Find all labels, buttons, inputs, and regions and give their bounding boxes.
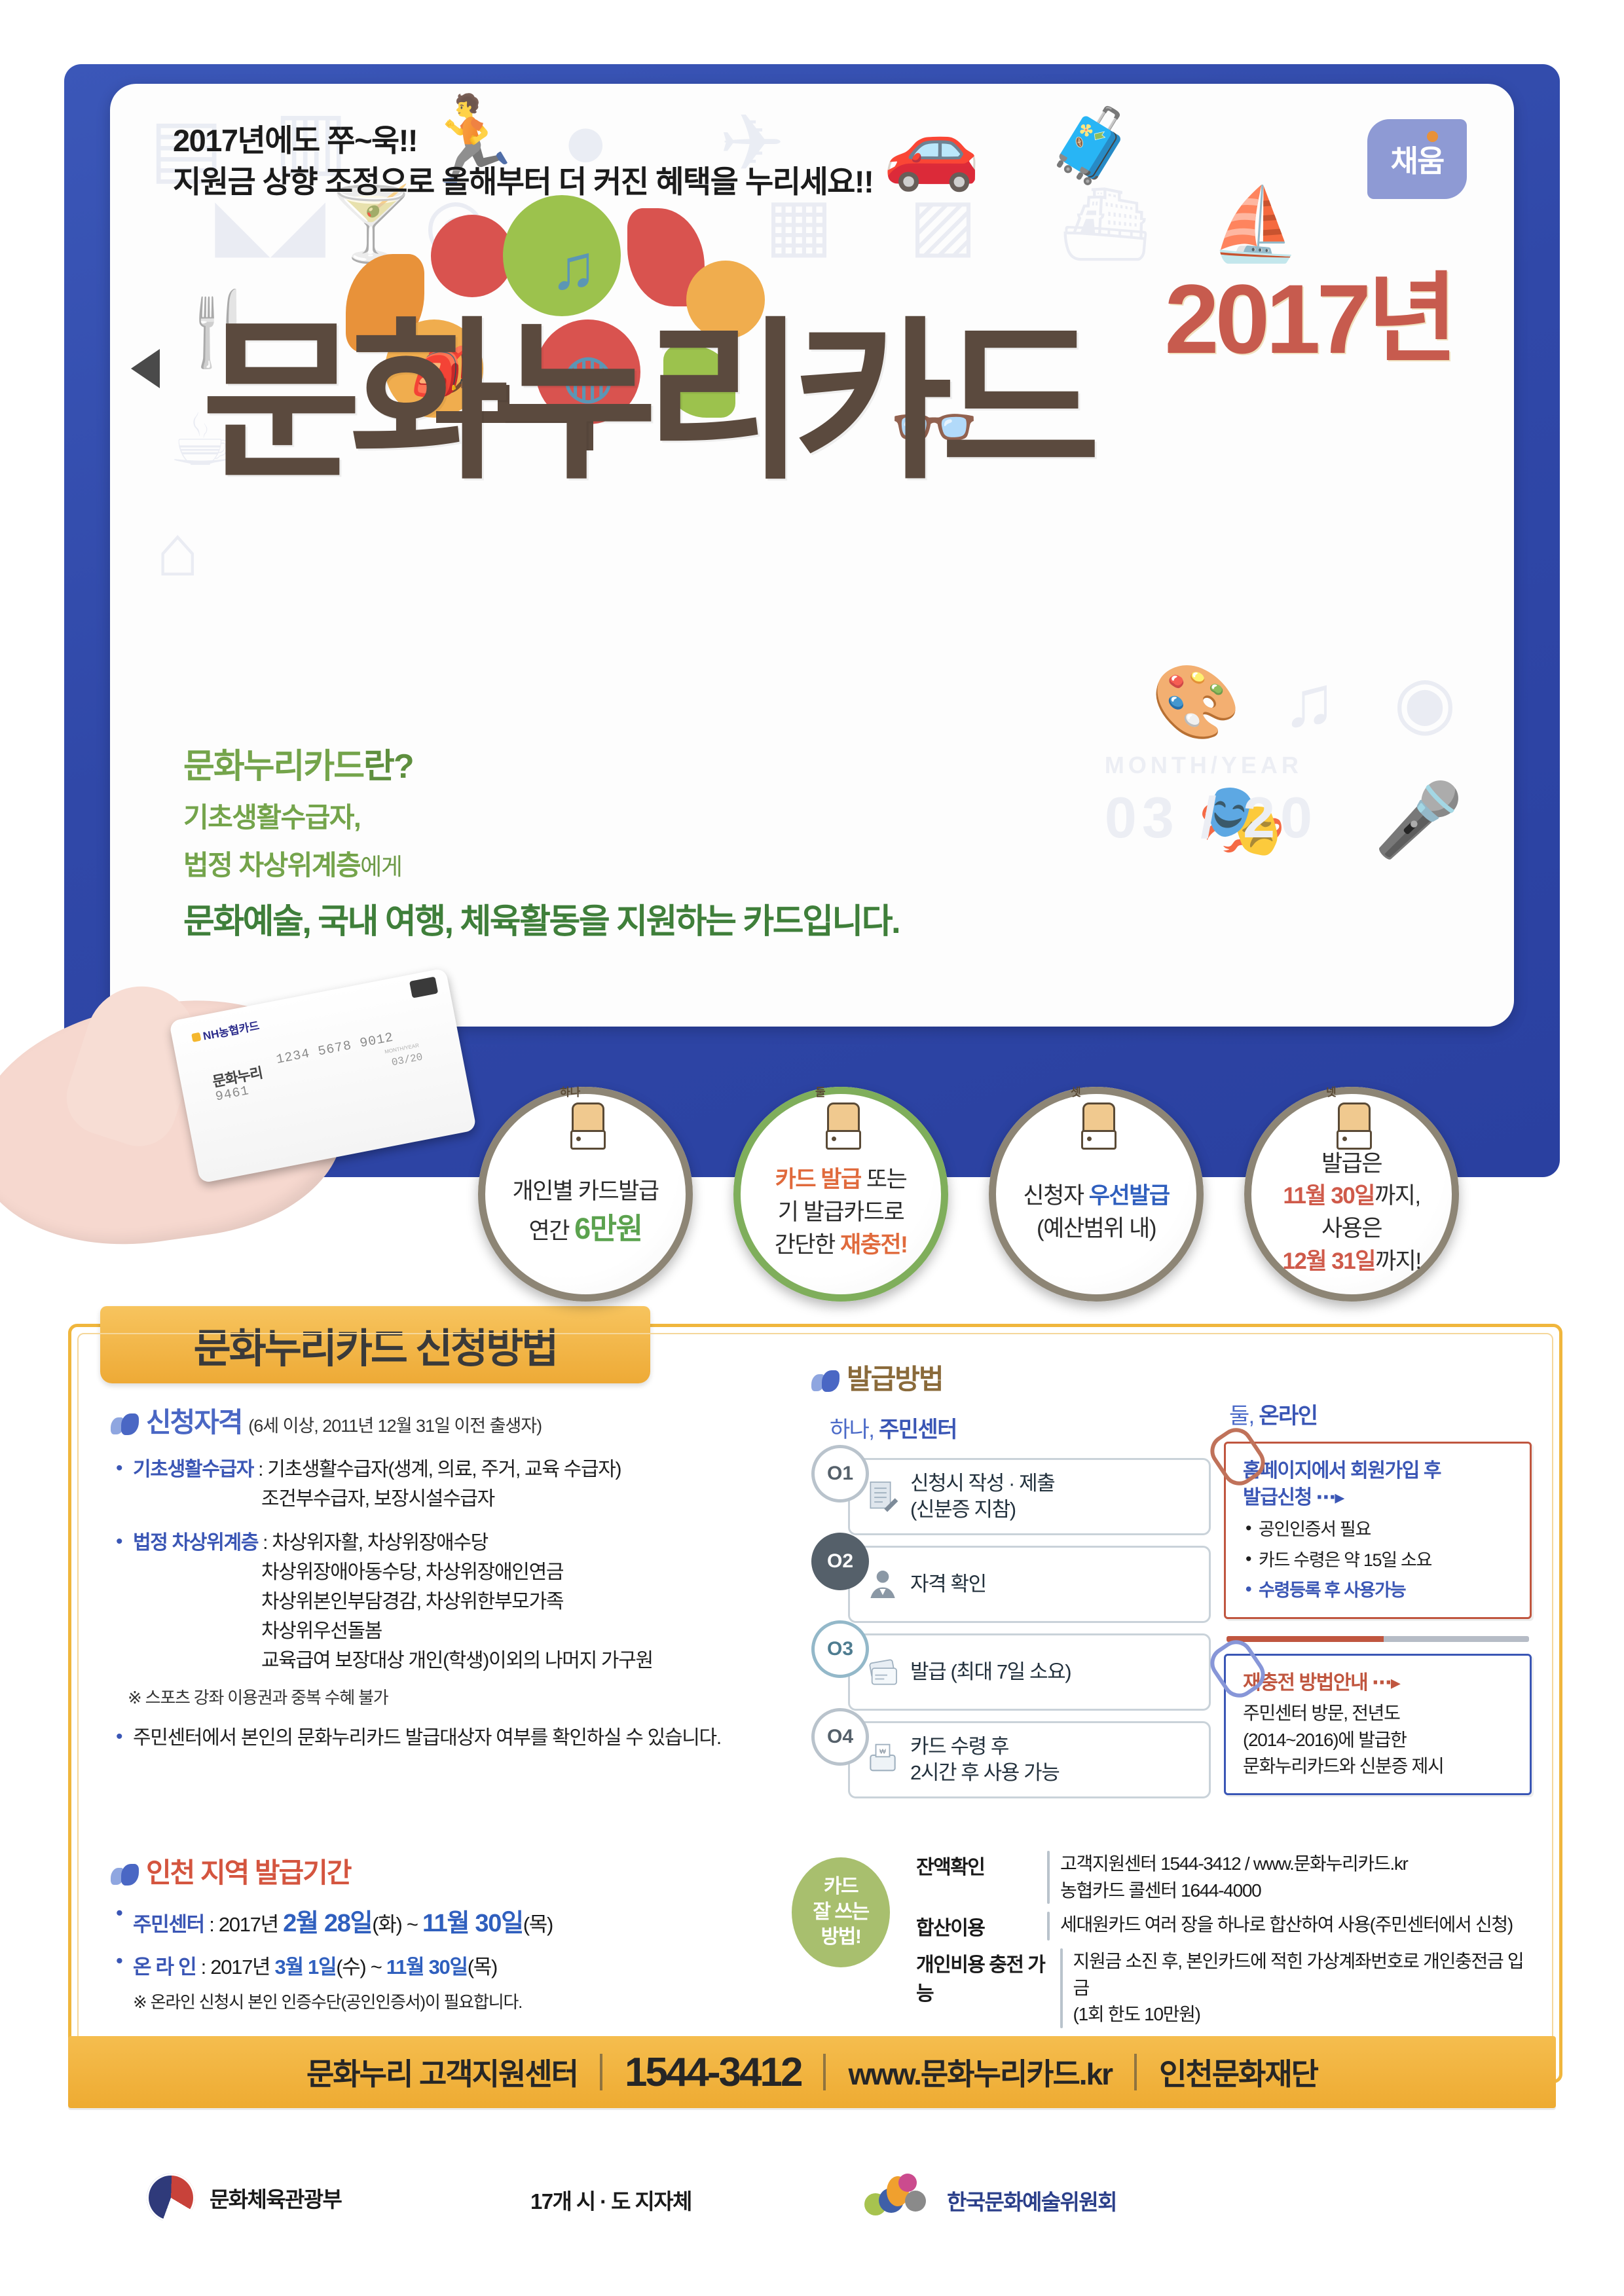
badge-deadlines: 넷 발급은 11월 30일까지, 사용은 12월 31일까지! — [1244, 1087, 1459, 1302]
badge-issue-or-recharge: 둘 카드 발급 또는 기 발급카드로 간단한 재충전! — [733, 1087, 948, 1302]
card-issuer: NH농협카드 — [191, 1016, 261, 1045]
contact-bar: 문화누리 고객지원센터 1544-3412 www.문화누리카드.kr 인천문화… — [68, 2036, 1556, 2108]
tip-row-topup: 개인비용 충전 가능 지원금 소진 후, 본인카드에 적힌 가상계좌번호로 개인… — [916, 1948, 1525, 2028]
footer-logos: 문화체육관광부 17개 시 · 도 지자체 한국문화예술위원회 행복한 대한민국… — [0, 2154, 1624, 2285]
hand-thumbsup-icon: 하나 — [563, 1083, 608, 1144]
month-year-label: MONTH/YEAR — [1105, 752, 1302, 778]
arko-emblem-icon — [864, 2176, 932, 2225]
period-row-online: 온 라 인 : 2017년 3월 1일(수) ~ 11월 30일(목) — [111, 1950, 805, 1980]
period-row-0-suffix: (목) — [523, 1913, 553, 1936]
tip-row-0-value: 고객지원센터 1544-3412 / www.문화누리카드.kr 농협카드 콜센… — [1060, 1851, 1408, 1904]
issue-step-4-number: O4 — [811, 1708, 869, 1766]
badge-1-line-2: 연간 6만원 — [512, 1208, 658, 1250]
badge-priority-issue: 셋 신청자 우선발급 (예산범위 내) — [989, 1087, 1204, 1302]
eligibility-column: 신청자격 (6세 이상, 2011년 12월 31일 이전 출생자) 기초생활수… — [111, 1400, 785, 1753]
gov-main: 정부3.0 — [1270, 2182, 1624, 2224]
badge-text-3: 신청자 우선발급 (예산범위 내) — [1023, 1143, 1169, 1245]
online-note-list: 공인인증서 필요 카드 수령은 약 15일 소요 수령등록 후 사용가능 — [1243, 1516, 1517, 1604]
contact-divider-3 — [1134, 2054, 1137, 2090]
issue-step-1-text: 신청시 작성 · 제출 (신분증 지참) — [910, 1470, 1054, 1523]
chaeum-dot-icon — [1427, 131, 1438, 142]
intro-line-3-strong: 법정 차상위계층 — [183, 850, 360, 881]
issue-option-two: 둘, 온라인 — [1229, 1398, 1532, 1430]
badge-4-line-2: 11월 30일까지, — [1282, 1180, 1420, 1212]
contact-divider-2 — [823, 2054, 826, 2090]
eligibility-item-1-line-4: 교육급여 보장대상 개인(학생)이외의 나머지 가구원 — [261, 1646, 785, 1675]
leaf-bullet-icon-2 — [811, 1370, 840, 1393]
eligibility-item-0-key: 기초생활수급자 — [133, 1459, 253, 1480]
intro-line-4: 문화예술, 국내 여행, 체육활동을 지원하는 카드입니다. — [183, 894, 899, 943]
footer-logo-1-label: 17개 시 · 도 지자체 — [530, 2184, 692, 2215]
headline-line-2: 지원금 상향 조정으로 올해부터 더 커진 혜택을 누리세요!! — [173, 162, 873, 203]
eligibility-heading: 신청자격 (6세 이상, 2011년 12월 31일 이전 출생자) — [111, 1400, 785, 1440]
issue-step-3-number: O3 — [811, 1620, 869, 1678]
badge-2-line-1: 카드 발급 또는 — [775, 1163, 908, 1196]
ribbon-title-text: 문화누리카드 신청방법 — [194, 1315, 557, 1374]
issue-step-4-box: ₩ 카드 수령 후 2시간 후 사용 가능 — [848, 1721, 1211, 1798]
leaf-bullet-icon-3 — [111, 1864, 139, 1886]
badge-hand-label-2: 둘 — [815, 1083, 826, 1099]
contact-divider-1 — [600, 2054, 602, 2090]
badge-text-4: 발급은 11월 30일까지, 사용은 12월 31일까지! — [1282, 1111, 1420, 1278]
left-arrow-icon — [131, 349, 160, 388]
period-row-1-mid: (수) ~ — [336, 1956, 386, 1978]
period-row-1-start: 3월 1일 — [275, 1956, 337, 1978]
badge-hand-label-3: 셋 — [1071, 1083, 1081, 1099]
period-row-0-prefix: 2017년 — [219, 1913, 283, 1936]
month-year-value: 03 / 20 — [1105, 784, 1318, 851]
badge-hand-label-4: 넷 — [1326, 1083, 1337, 1099]
online-note-item-2: 수령등록 후 사용가능 — [1243, 1577, 1517, 1604]
badge-hand-label-1: 하나 — [560, 1083, 580, 1099]
headline-line-1: 2017년에도 쭈~욱!! — [173, 120, 873, 162]
contact-website[interactable]: www.문화누리카드.kr — [848, 2050, 1112, 2094]
intro-line-2: 기초생활수급자, — [183, 795, 899, 835]
eligibility-item-1-key: 법정 차상위계층 — [133, 1532, 258, 1554]
period-row-0-mid: (화) ~ — [372, 1913, 422, 1936]
gov-top-line-1: 행복한 — [1270, 2154, 1624, 2168]
tip-row-1-separator — [1047, 1912, 1050, 1941]
footer-logo-local: 17개 시 · 도 지자체 — [530, 2184, 692, 2215]
period-row-1-label: 온 라 인 — [133, 1956, 196, 1978]
intro-copy: 문화누리카드란? 기초생활수급자, 법정 차상위계층에게 문화예술, 국내 여행… — [183, 738, 899, 943]
tip-row-0-key: 잔액확인 — [916, 1851, 1044, 1904]
watermark-car-icon: 🚗 — [883, 103, 980, 195]
badge-2-line-2: 기 발급카드로 — [775, 1196, 908, 1229]
online-signup-note: 홈페이지에서 회원가입 후 발급신청 ⋯▸ 공인인증서 필요 카드 수령은 약 … — [1224, 1442, 1532, 1619]
period-footnote: ※ 온라인 신청시 본인 인증수단(공인인증서)이 필요합니다. — [133, 1989, 805, 2013]
hero-wordmark: 문화누리카드 — [202, 319, 1089, 486]
mcst-emblem-icon — [147, 2174, 195, 2222]
badge-1-amount: 6만원 — [574, 1212, 642, 1245]
document-pen-icon — [864, 1478, 901, 1515]
issue-step-2: O2 자격 확인 — [811, 1546, 1211, 1630]
contact-center-label: 문화누리 고객지원센터 — [306, 2050, 578, 2094]
issue-option-one-label: 주민센터 — [879, 1417, 957, 1442]
music-note-icon: ♫ — [550, 232, 597, 304]
issue-option-two-prefix: 둘, — [1229, 1404, 1259, 1429]
eligibility-item-1-line-3: 차상위우선돌봄 — [261, 1616, 785, 1646]
issue-step-3: O3 발급 (최대 7일 소요) — [811, 1633, 1211, 1717]
watermark-luggage-icon: 🧳 — [1046, 103, 1136, 188]
watermark-palette-icon: 🎨 — [1151, 660, 1241, 744]
watermark-disc-icon: ◉ — [1393, 660, 1456, 744]
application-ribbon-title: 문화누리카드 신청방법 — [100, 1306, 650, 1383]
nh-mark-icon — [191, 1032, 201, 1042]
issue-step-2-number: O2 — [811, 1533, 869, 1590]
card-number-line-1: 1234 5678 9012 — [275, 1030, 395, 1068]
tip-row-1-key: 합산이용 — [916, 1912, 1044, 1941]
badge-1-line-1: 개인별 카드발급 — [512, 1175, 658, 1208]
eligibility-heading-note: (6세 이상, 2011년 12월 31일 이전 출생자) — [248, 1416, 542, 1436]
issue-option-one: 하나, 주민센터 — [830, 1412, 1211, 1444]
tip-row-2-value: 지원금 소진 후, 본인카드에 적힌 가상계좌번호로 개인충전금 입금 (1회 … — [1073, 1948, 1525, 2028]
eligibility-item-1-line-2: 차상위본인부담경감, 차상위한부모가족 — [261, 1587, 785, 1616]
intro-question-tail: 란? — [363, 748, 413, 786]
hand-three-fingers-icon: 셋 — [1073, 1083, 1119, 1144]
usage-tips-block: 카드 잘 쓰는 방법! 잔액확인 고객지원센터 1544-3412 / www.… — [792, 1851, 1525, 2036]
chaeum-logo-label: 채움 — [1391, 137, 1444, 181]
badge-3-line-2: (예산범위 내) — [1023, 1212, 1169, 1245]
footer-logo-mcst: 문화체육관광부 — [147, 2174, 341, 2222]
issue-method-heading: 발급방법 — [811, 1357, 1211, 1397]
tip-row-balance: 잔액확인 고객지원센터 1544-3412 / www.문화누리카드.kr 농협… — [916, 1851, 1525, 1904]
footer-logo-arko: 한국문화예술위원회 — [864, 2176, 1116, 2225]
online-method-column: 둘, 온라인 홈페이지에서 회원가입 후 발급신청 ⋯▸ 공인인증서 필요 카드… — [1224, 1357, 1532, 1795]
badge-4-line-3: 사용은 — [1282, 1212, 1420, 1245]
svg-text:₩: ₩ — [879, 1748, 886, 1756]
period-row-1-prefix: 2017년 — [210, 1956, 274, 1978]
issue-step-4: O4 ₩ 카드 수령 후 2시간 후 사용 가능 — [811, 1721, 1211, 1805]
eligibility-item-0-line-0: 기초생활수급자(생계, 의료, 주거, 교육 수급자) — [267, 1459, 621, 1480]
issue-step-3-text: 발급 (최대 7일 소요) — [910, 1659, 1071, 1685]
issue-step-1-number: O1 — [811, 1445, 869, 1503]
hero-white-card: ▤ ▥ 🏃 ● ✈ 🚗 🧳 ◣◢ 🍸 ◎ ▦ ▨ ⛴ ⛵ 🍴 ☕ ⌂ 👓 🎨 ♫… — [110, 84, 1514, 1027]
period-row-0-label: 주민센터 — [133, 1913, 204, 1936]
watermark-clapper-icon: ▨ — [909, 182, 977, 266]
card-terminal-icon: ₩ — [864, 1741, 901, 1778]
intro-question: 문화누리카드란? — [183, 738, 899, 788]
application-info-panel: 문화누리카드 신청방법 신청자격 (6세 이상, 2011년 12월 31일 이… — [68, 1324, 1562, 2083]
hero-year-title: 2017년 — [1164, 240, 1454, 382]
contact-organization: 인천문화재단 — [1159, 2050, 1318, 2094]
badge-text-1: 개인별 카드발급 연간 6만원 — [512, 1139, 658, 1250]
issue-step-2-text: 자격 확인 — [910, 1571, 986, 1597]
period-row-center: 주민센터 : 2017년 2월 28일(화) ~ 11월 30일(목) — [111, 1903, 805, 1939]
eligibility-item-1-line-1: 차상위장애아동수당, 차상위장애인연금 — [261, 1558, 785, 1587]
intro-line-3-tail: 에게 — [360, 853, 401, 880]
recharge-note: 재충전 방법안내 ⋯▸ 주민센터 방문, 전년도 (2014~2016)에 발급… — [1224, 1654, 1532, 1795]
badge-personal-issue: 하나 개인별 카드발급 연간 6만원 — [478, 1087, 693, 1302]
footer-logo-2-label: 한국문화예술위원회 — [947, 2185, 1116, 2216]
issue-method-column: 발급방법 하나, 주민센터 O1 신청시 작성 · 제출 (신분증 지참) — [811, 1357, 1211, 1809]
intro-question-brand: 문화누리카드 — [183, 748, 363, 786]
badge-4-line-1: 발급은 — [1282, 1148, 1420, 1180]
period-heading-text: 인천 지역 발급기간 — [146, 1857, 350, 1888]
eligibility-extra-bullet: 주민센터에서 본인의 문화누리카드 발급대상자 여부를 확인하실 수 있습니다. — [111, 1723, 785, 1753]
period-row-0-end: 11월 30일 — [422, 1910, 523, 1937]
card-month-year-watermark: MONTH/YEAR 03 / 20 — [1105, 752, 1318, 851]
eligibility-item-basic: 기초생활수급자 : 기초생활수급자(생계, 의료, 주거, 교육 수급자) 조건… — [111, 1455, 785, 1514]
tip-row-1-value: 세대원카드 여러 장을 하나로 합산하여 사용(주민센터에서 신청) — [1060, 1912, 1513, 1941]
issue-step-1-box: 신청시 작성 · 제출 (신분증 지참) — [848, 1458, 1211, 1535]
chaeum-logo: 채움 — [1367, 119, 1467, 199]
recharge-note-heading: 재충전 방법안내 ⋯▸ — [1243, 1670, 1517, 1697]
online-note-item-1: 카드 수령은 약 15일 소요 — [1243, 1547, 1517, 1574]
leaf-bullet-icon — [111, 1413, 139, 1436]
eligibility-item-nearpoor: 법정 차상위계층 : 차상위자활, 차상위장애수당 차상위장애아동수당, 차상위… — [111, 1528, 785, 1675]
issue-steps: O1 신청시 작성 · 제출 (신분증 지참) O2 — [811, 1458, 1211, 1805]
incheon-period-block: 인천 지역 발급기간 주민센터 : 2017년 2월 28일(화) ~ 11월 … — [111, 1851, 805, 2013]
footer-logo-gov30: 행복한 대한민국을 여는 정부3.0 [ 개방 · 공유 · 소통 · 협력 ] — [1270, 2154, 1624, 2240]
badge-3-line-1: 신청자 우선발급 — [1023, 1180, 1169, 1212]
issue-step-4-text: 카드 수령 후 2시간 후 사용 가능 — [910, 1734, 1059, 1787]
intro-line-3: 법정 차상위계층에게 — [183, 843, 899, 883]
period-heading: 인천 지역 발급기간 — [111, 1851, 805, 1891]
section-divider — [1227, 1636, 1529, 1642]
recharge-note-body: 주민센터 방문, 전년도 (2014~2016)에 발급한 문화누리카드와 신분… — [1243, 1700, 1517, 1780]
headline-block: 2017년에도 쭈~욱!! 지원금 상향 조정으로 올해부터 더 커진 혜택을 … — [173, 120, 873, 203]
eligibility-item-0-line-1: 조건부수급자, 보장시설수급자 — [261, 1484, 785, 1514]
tip-row-combine: 합산이용 세대원카드 여러 장을 하나로 합산하여 사용(주민센터에서 신청) — [916, 1912, 1525, 1941]
period-row-0-start: 2월 28일 — [283, 1910, 372, 1937]
period-row-1-end: 11월 30일 — [386, 1956, 468, 1978]
watermark-mic-icon: 🎤 — [1374, 778, 1464, 862]
watermark-ship-icon: ⛴ — [1060, 182, 1151, 266]
badge-text-2: 카드 발급 또는 기 발급카드로 간단한 재충전! — [775, 1127, 908, 1261]
eligibility-footnote: ※ 스포츠 강좌 이용권과 중복 수혜 불가 — [128, 1685, 785, 1709]
issue-step-1: O1 신청시 작성 · 제출 (신분증 지참) — [811, 1458, 1211, 1542]
credit-cards-icon — [864, 1654, 901, 1690]
tip-row-2-key: 개인비용 충전 가능 — [916, 1948, 1058, 2028]
issue-option-one-prefix: 하나, — [830, 1417, 879, 1442]
issue-method-heading-text: 발급방법 — [847, 1364, 943, 1394]
eligibility-heading-text: 신청자격 — [146, 1407, 242, 1438]
tip-row-0-separator — [1047, 1851, 1050, 1904]
badge-4-line-4: 12월 31일까지! — [1282, 1245, 1420, 1278]
online-note-item-0: 공인인증서 필요 — [1243, 1516, 1517, 1543]
contact-telephone[interactable]: 1544-3412 — [625, 2049, 802, 2096]
gov-bottom: [ 개방 · 공유 · 소통 · 협력 ] — [1270, 2227, 1624, 2240]
usage-tips-badge-label: 카드 잘 쓰는 방법! — [813, 1874, 868, 1950]
badge-2-line-3: 간단한 재충전! — [775, 1229, 908, 1262]
gov-top-line-2: 대한민국을 여는 — [1270, 2168, 1624, 2181]
staff-person-icon — [864, 1566, 901, 1603]
poster-root: ▤ ▥ 🏃 ● ✈ 🚗 🧳 ◣◢ 🍸 ◎ ▦ ▨ ⛴ ⛵ 🍴 ☕ ⌂ 👓 🎨 ♫… — [0, 0, 1624, 2296]
watermark-carousel-icon: ⌂ — [156, 509, 199, 592]
tree-circle-red-icon — [431, 215, 513, 297]
issue-step-2-box: 자격 확인 — [848, 1546, 1211, 1623]
online-note-heading: 홈페이지에서 회원가입 후 발급신청 ⋯▸ — [1243, 1458, 1517, 1511]
watermark-note-icon: ♫ — [1282, 660, 1337, 743]
eligibility-item-1-line-0: 차상위자활, 차상위장애수당 — [272, 1532, 488, 1554]
usage-tips-badge: 카드 잘 쓰는 방법! — [792, 1857, 890, 1967]
period-row-1-suffix: (목) — [468, 1956, 497, 1978]
card-expiry-value: 03/20 — [390, 1051, 424, 1069]
card-chip-icon — [409, 977, 438, 998]
issue-option-two-label: 온라인 — [1259, 1404, 1317, 1429]
footer-logo-0-label: 문화체육관광부 — [210, 2182, 341, 2214]
tip-row-2-separator — [1060, 1948, 1063, 2028]
issue-step-3-box: 발급 (최대 7일 소요) — [848, 1633, 1211, 1711]
badge-row: 하나 개인별 카드발급 연간 6만원 둘 카드 발급 또는 기 발급카드로 간단… — [0, 1087, 1624, 1296]
